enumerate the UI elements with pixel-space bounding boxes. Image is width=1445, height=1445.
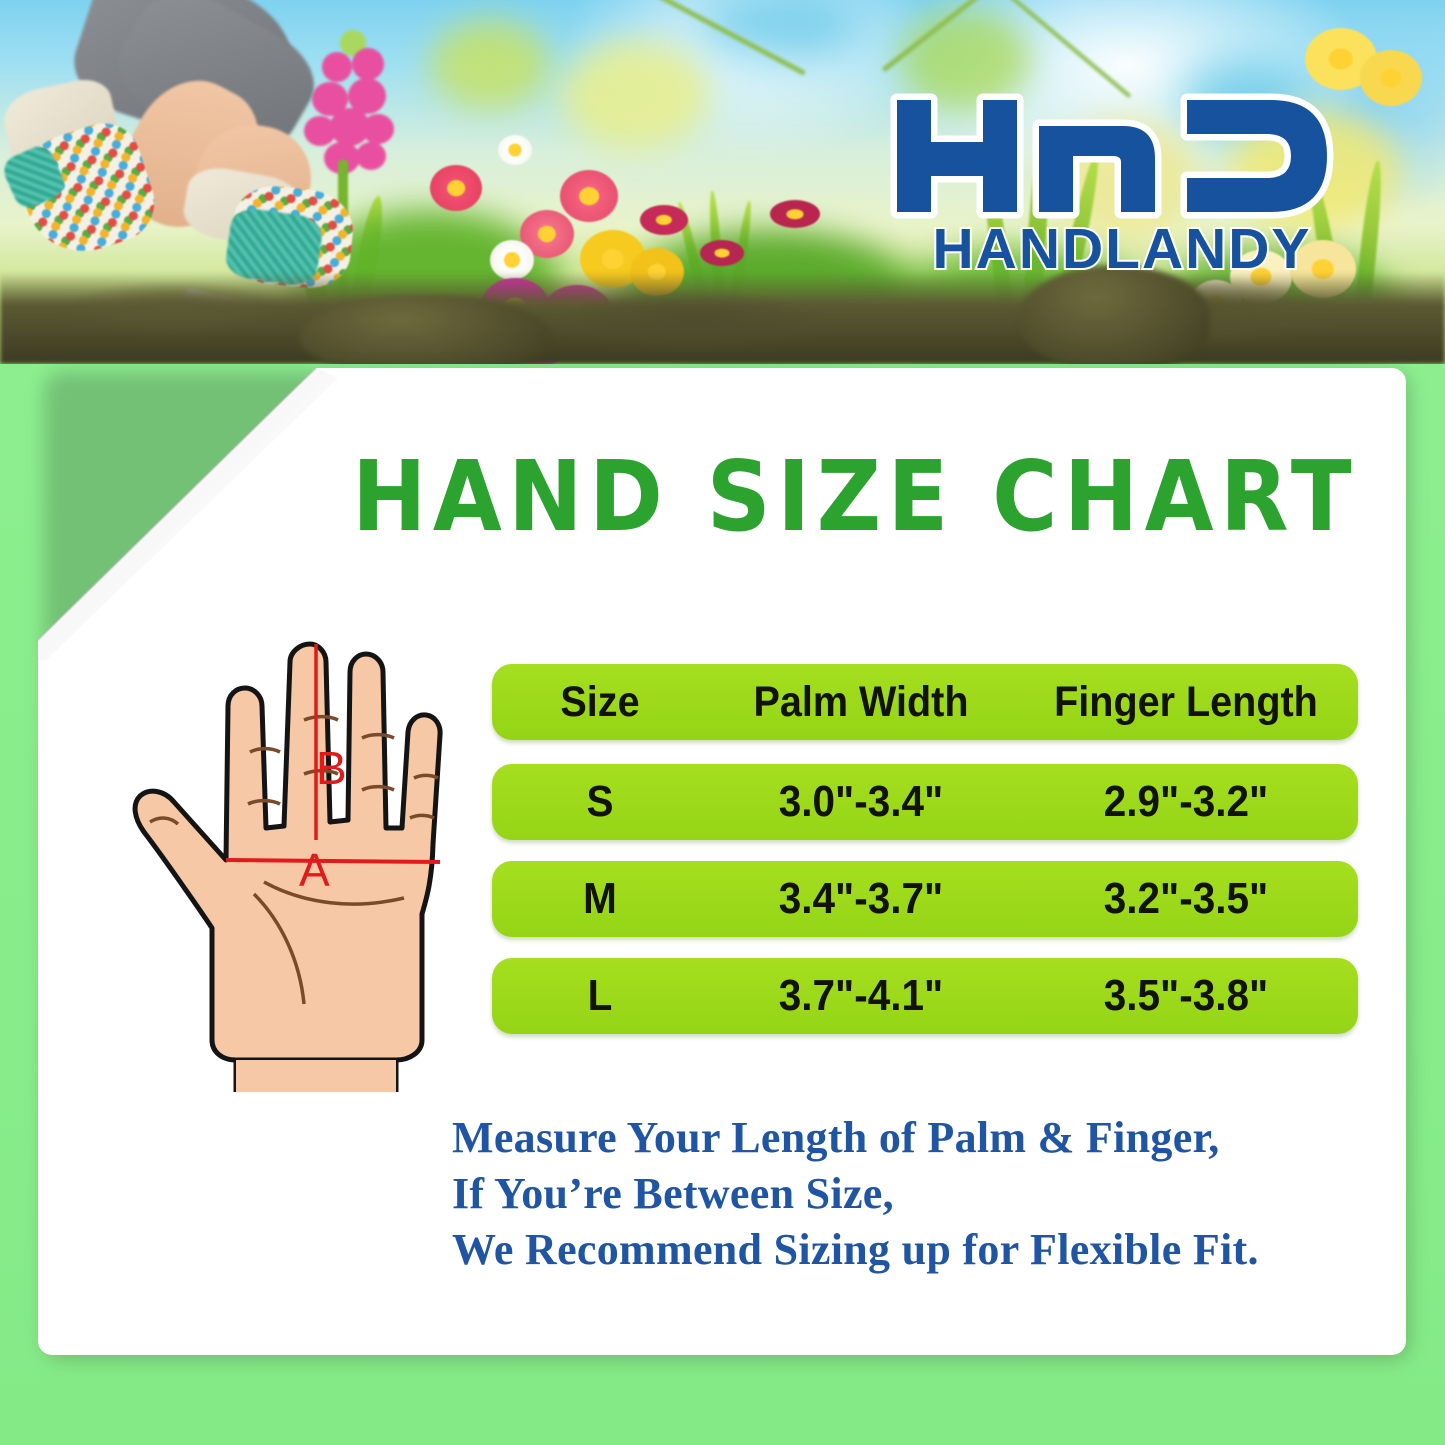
cell-palm-width: 3.7"-4.1" bbox=[720, 971, 1002, 1021]
brand-logo: HANDLANDY bbox=[887, 92, 1357, 284]
hnd-monogram-icon bbox=[887, 92, 1357, 220]
cell-finger-length: 3.5"-3.8" bbox=[1028, 971, 1344, 1021]
table-row: S 3.0"-3.4" 2.9"-3.2" bbox=[492, 764, 1358, 840]
cell-size: L bbox=[501, 971, 700, 1021]
daisy bbox=[770, 200, 820, 228]
label-a: A bbox=[299, 847, 330, 893]
sizing-note-line-2: If You’re Between Size, bbox=[452, 1166, 1352, 1222]
foliage-blur bbox=[560, 40, 710, 150]
sizing-note: Measure Your Length of Palm & Finger, If… bbox=[452, 1110, 1352, 1278]
soil-strip bbox=[0, 272, 1445, 364]
hand-measurement-diagram: B A bbox=[104, 632, 494, 1092]
daisy bbox=[700, 240, 744, 266]
cell-size: M bbox=[501, 874, 700, 924]
size-chart-infographic: HANDLANDY HAND SIZE CHART bbox=[0, 0, 1445, 1445]
cell-finger-length: 3.2"-3.5" bbox=[1028, 874, 1344, 924]
size-chart-table: Size Palm Width Finger Length S 3.0"-3.4… bbox=[492, 664, 1358, 1055]
table-row: M 3.4"-3.7" 3.2"-3.5" bbox=[492, 861, 1358, 937]
column-header-size: Size bbox=[501, 678, 700, 727]
label-b: B bbox=[316, 745, 347, 791]
cell-size: S bbox=[501, 777, 700, 827]
hyacinth-flower bbox=[300, 30, 410, 200]
column-header-palm-width: Palm Width bbox=[720, 678, 1002, 727]
sizing-note-line-1: Measure Your Length of Palm & Finger, bbox=[452, 1110, 1352, 1166]
cell-finger-length: 2.9"-3.2" bbox=[1028, 777, 1344, 827]
table-header-row: Size Palm Width Finger Length bbox=[492, 664, 1358, 740]
column-header-finger-length: Finger Length bbox=[1028, 678, 1344, 727]
daisy bbox=[430, 165, 482, 211]
cell-palm-width: 3.0"-3.4" bbox=[720, 777, 1002, 827]
daisy bbox=[560, 170, 618, 222]
brand-wordmark: HANDLANDY bbox=[887, 218, 1357, 280]
cell-palm-width: 3.4"-3.7" bbox=[720, 874, 1002, 924]
table-row: L 3.7"-4.1" 3.5"-3.8" bbox=[492, 958, 1358, 1034]
daisy bbox=[640, 205, 688, 235]
daisy bbox=[498, 135, 532, 165]
daffodil bbox=[1360, 50, 1422, 106]
foliage-blur bbox=[430, 20, 550, 110]
sizing-note-line-3: We Recommend Sizing up for Flexible Fit. bbox=[452, 1222, 1352, 1278]
page-title: HAND SIZE CHART bbox=[352, 443, 1423, 550]
